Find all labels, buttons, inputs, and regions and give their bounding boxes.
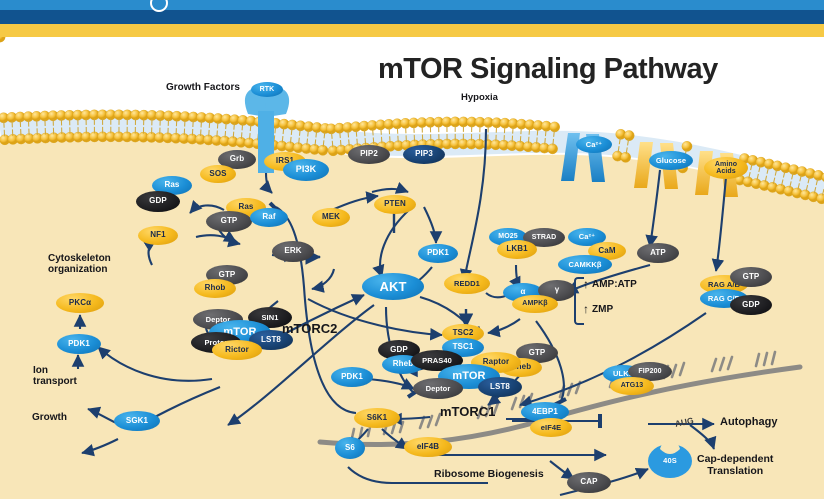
node-cap[interactable]: CAP xyxy=(567,472,611,493)
label-mtorc1: mTORC1 xyxy=(440,405,495,420)
node-pip3[interactable]: PIP3 xyxy=(403,145,445,164)
label-zmp: ZMP xyxy=(592,304,613,315)
node-s6[interactable]: S6 xyxy=(335,437,365,459)
pathway-vector-layer xyxy=(0,37,824,499)
node-amino-acids[interactable]: Amino Acids xyxy=(704,157,748,179)
node-camkkb[interactable]: CAMKKβ xyxy=(558,255,612,274)
node-gtp-ras[interactable]: GTP xyxy=(206,211,252,232)
node-lst8-mtorc1[interactable]: LST8 xyxy=(478,377,522,397)
label-mtorc2: mTORC2 xyxy=(282,322,337,337)
screenshot-root: RTK Grb SOS IRS1 PI3K Ras GDP NF1 Ras GT… xyxy=(0,0,824,499)
node-erk[interactable]: ERK xyxy=(272,241,314,262)
label-growth-factors: Growth Factors xyxy=(166,82,240,93)
label-ion-transport: Ion transport xyxy=(33,365,77,387)
page-title: mTOR Signaling Pathway xyxy=(378,53,718,86)
label-growth: Growth xyxy=(32,412,67,423)
node-ca-channel[interactable]: Ca²⁺ xyxy=(576,136,612,153)
pathway-diagram: RTK Grb SOS IRS1 PI3K Ras GDP NF1 Ras GT… xyxy=(0,37,824,499)
node-glucose[interactable]: Glucose xyxy=(649,151,693,170)
label-amp-atp-ratio: AMP:ATP xyxy=(592,279,637,290)
node-deptor-mtorc1[interactable]: Deptor xyxy=(413,378,463,399)
node-lkb1[interactable]: LKB1 xyxy=(497,240,537,259)
chrome-bar-secondary xyxy=(0,10,824,24)
label-ribosome-biogenesis: Ribosome Biogenesis xyxy=(434,469,544,481)
node-gdp-rag[interactable]: GDP xyxy=(730,295,772,315)
label-cytoskeleton-organization: Cytoskeleton organization xyxy=(48,253,111,275)
node-raf[interactable]: Raf xyxy=(250,208,288,227)
node-pdk1-akt[interactable]: PDK1 xyxy=(418,244,458,263)
node-rhob[interactable]: Rhob xyxy=(194,279,236,298)
node-redd1[interactable]: REDD1 xyxy=(444,273,490,294)
node-pkc-alpha[interactable]: PKCα xyxy=(56,293,104,313)
node-eif4e[interactable]: eIF4E xyxy=(530,418,572,437)
node-gdp-ras[interactable]: GDP xyxy=(136,191,180,212)
chrome-bar-primary xyxy=(0,0,824,10)
node-nf1[interactable]: NF1 xyxy=(138,226,178,245)
node-rictor[interactable]: Rictor xyxy=(212,340,262,360)
node-pdk1-pkc[interactable]: PDK1 xyxy=(57,334,101,354)
node-ribosome-40s[interactable]: 40S xyxy=(652,452,688,469)
node-atg13[interactable]: ATG13 xyxy=(610,377,654,395)
node-sgk1[interactable]: SGK1 xyxy=(114,411,160,431)
ampk-brace xyxy=(574,277,584,325)
label-autophagy: Autophagy xyxy=(720,416,777,428)
node-eif4b[interactable]: eIF4B xyxy=(404,437,452,457)
node-atp[interactable]: ATP xyxy=(637,243,679,263)
node-s6k1[interactable]: S6K1 xyxy=(354,408,400,428)
label-hypoxia: Hypoxia xyxy=(461,93,498,104)
node-pip2[interactable]: PIP2 xyxy=(348,145,390,164)
node-rtk[interactable]: RTK xyxy=(251,82,283,97)
node-akt[interactable]: AKT xyxy=(362,273,424,300)
node-gtp-rag[interactable]: GTP xyxy=(730,267,772,287)
chrome-bar-accent xyxy=(0,24,824,37)
node-pdk1-mtorc1[interactable]: PDK1 xyxy=(331,367,373,387)
node-ampk-beta[interactable]: AMPKβ xyxy=(512,295,558,313)
node-mek[interactable]: MEK xyxy=(312,208,350,227)
node-sos[interactable]: SOS xyxy=(200,165,236,183)
label-cap-dependent-translation: Cap-dependent Translation xyxy=(697,454,773,478)
node-pten[interactable]: PTEN xyxy=(374,195,416,214)
node-pi3k[interactable]: PI3K xyxy=(283,159,329,181)
